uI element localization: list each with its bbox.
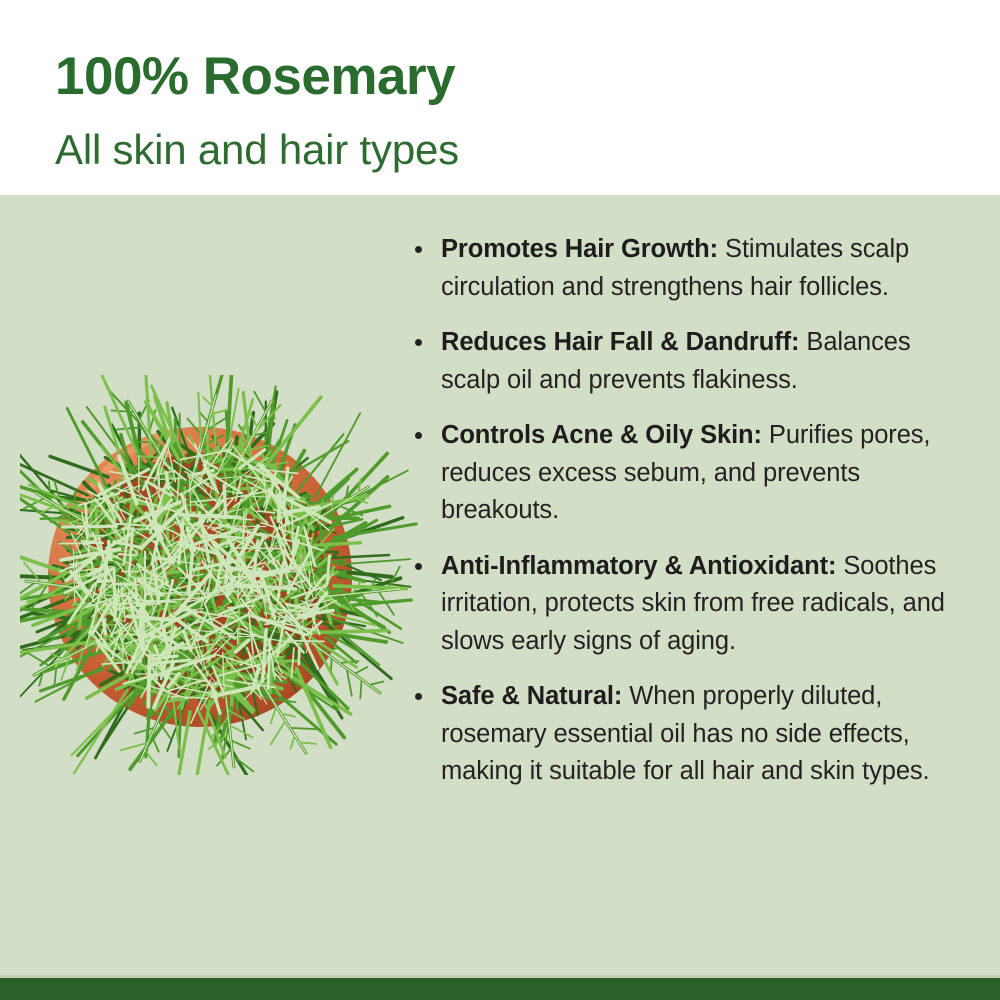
benefit-lead: Reduces Hair Fall & Dandruff: <box>441 328 799 356</box>
footer-band <box>0 978 1000 1000</box>
list-item: Promotes Hair Growth: Stimulates scalp c… <box>408 231 968 306</box>
bullet-icon <box>415 246 422 253</box>
benefits-list: Promotes Hair Growth: Stimulates scalp c… <box>408 231 968 809</box>
infographic-page: 100% Rosemary All skin and hair types <box>0 0 1000 1000</box>
bullet-icon <box>415 339 422 346</box>
list-item: Controls Acne & Oily Skin: Purifies pore… <box>408 417 968 530</box>
bullet-icon <box>415 563 422 570</box>
benefit-lead: Controls Acne & Oily Skin: <box>441 421 762 449</box>
list-item: Safe & Natural: When properly diluted, r… <box>408 678 968 791</box>
benefit-lead: Anti-Inflammatory & Antioxidant: <box>441 552 836 580</box>
benefit-lead: Safe & Natural: <box>441 682 622 710</box>
benefit-lead: Promotes Hair Growth: <box>441 235 718 263</box>
list-item: Anti-Inflammatory & Antioxidant: Soothes… <box>408 548 968 661</box>
list-item: Reduces Hair Fall & Dandruff: Balances s… <box>408 324 968 399</box>
bullet-icon <box>415 432 422 439</box>
bowl-of-fresh-rosemary-image <box>20 375 420 775</box>
header-band: 100% Rosemary All skin and hair types <box>0 0 1000 195</box>
bullet-icon <box>415 693 422 700</box>
content-band: Promotes Hair Growth: Stimulates scalp c… <box>0 195 1000 978</box>
page-title: 100% Rosemary <box>55 46 455 107</box>
page-subtitle: All skin and hair types <box>55 126 459 174</box>
